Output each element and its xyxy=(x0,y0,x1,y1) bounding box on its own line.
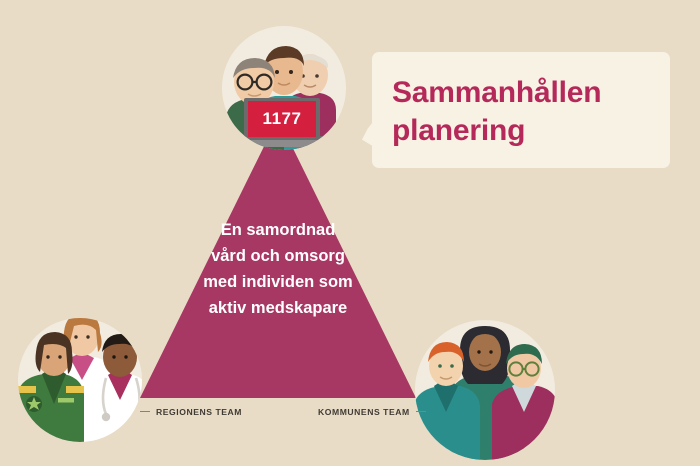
title-line-2: planering xyxy=(392,112,668,150)
page-title: Sammanhållen planering xyxy=(392,74,668,151)
center-text-line-1: En samordnad xyxy=(150,218,406,244)
caption-regionens-team-label: REGIONENS TEAM xyxy=(156,407,242,417)
center-text-line-2: vård och omsorg xyxy=(150,244,406,270)
group-kommunens-team xyxy=(414,320,558,460)
infographic-canvas: 1177 Sammanhållen planering En samordnad… xyxy=(0,0,700,466)
center-text-line-4: aktiv medskapare xyxy=(150,296,406,322)
badge-1177: 1177 xyxy=(248,101,316,137)
group-regionens-team xyxy=(18,313,148,442)
triangle-center-text: En samordnad vård och omsorg med individ… xyxy=(150,218,406,322)
caption-regionens-team: REGIONENS TEAM xyxy=(140,407,242,417)
title-line-1: Sammanhållen xyxy=(392,74,668,112)
caption-kommunens-team-label: KOMMUNENS TEAM xyxy=(318,407,410,417)
center-text-line-3: med individen som xyxy=(150,270,406,296)
caption-dash-left xyxy=(140,411,150,412)
caption-dash-right xyxy=(416,411,426,412)
caption-kommunens-team: KOMMUNENS TEAM xyxy=(318,407,426,417)
